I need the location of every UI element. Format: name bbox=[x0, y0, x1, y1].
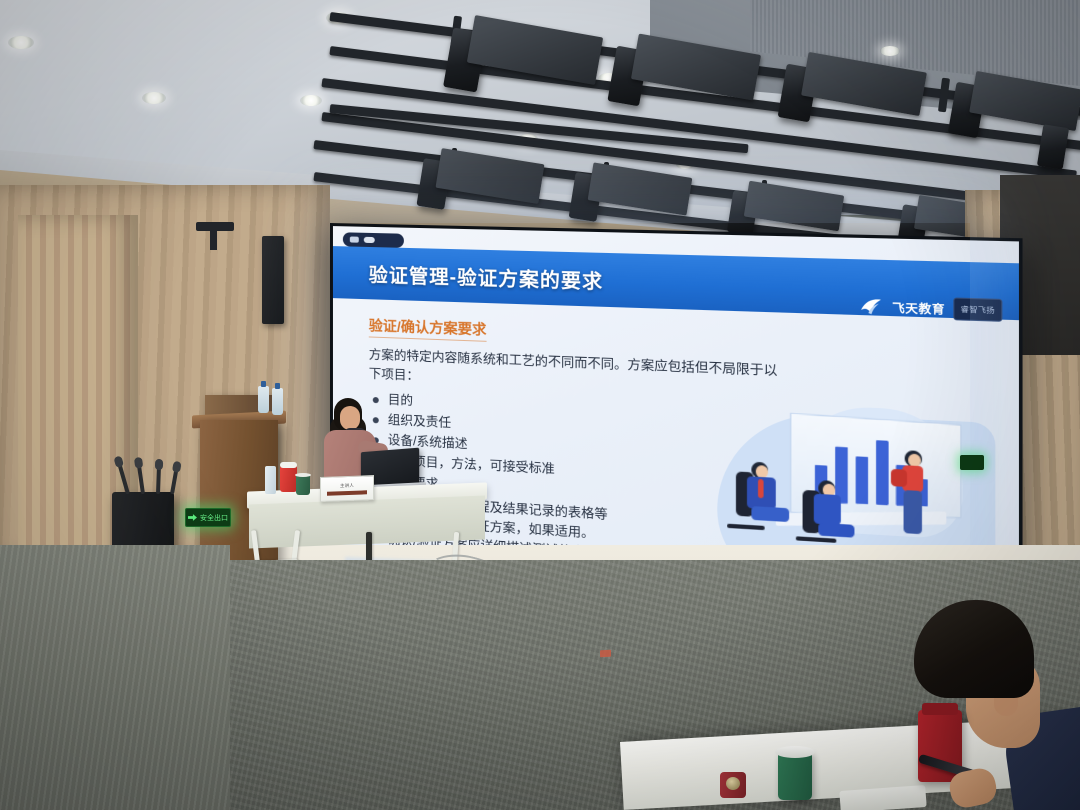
brand-name: 飞天教育 bbox=[892, 298, 945, 317]
exit-sign-label: 安全出口 bbox=[200, 513, 228, 523]
illustration-person-folder bbox=[891, 469, 907, 487]
downlight bbox=[300, 95, 322, 106]
water-bottle bbox=[258, 386, 269, 413]
name-card-bar bbox=[327, 490, 367, 495]
water-bottle bbox=[272, 388, 283, 415]
table-green-cup bbox=[296, 475, 310, 495]
exit-sign-left: 安全出口 bbox=[185, 508, 231, 527]
exit-sign-right bbox=[960, 455, 984, 470]
exit-arrow-icon bbox=[188, 513, 197, 522]
downlight bbox=[142, 92, 166, 104]
illustration-person-legs bbox=[751, 506, 789, 522]
illustration-person-legs bbox=[818, 523, 854, 538]
downlight bbox=[880, 46, 900, 56]
carpet-floor-left bbox=[0, 545, 230, 810]
illustration-person-legs bbox=[904, 490, 922, 534]
audience-member-hair bbox=[914, 600, 1034, 698]
presenter-face bbox=[340, 406, 360, 430]
conference-hall-photo: 验证管理-验证方案的要求 飞天教育 睿智飞扬 验证/确认方案要求 bbox=[0, 0, 1080, 810]
name-card-label: 主讲人 bbox=[340, 482, 354, 488]
floor-marker bbox=[600, 650, 611, 658]
illustration-person-torso bbox=[814, 494, 841, 525]
presenter-name-card: 主讲人 bbox=[320, 475, 374, 502]
green-paper-cup bbox=[778, 752, 812, 800]
table-red-cup bbox=[280, 466, 297, 492]
chrome-dot-icon bbox=[364, 237, 375, 243]
wall-speaker bbox=[262, 236, 284, 324]
slide-title-bar: 验证管理-验证方案的要求 飞天教育 睿智飞扬 bbox=[333, 246, 1019, 320]
brand-lockup: 飞天教育 睿智飞扬 bbox=[859, 295, 1002, 322]
illustration-person-tie bbox=[758, 479, 764, 498]
illustration-chart-bar bbox=[856, 456, 868, 504]
illustration-chart-bar bbox=[876, 440, 888, 505]
brand-badge-text: 睿智飞扬 bbox=[961, 304, 995, 316]
bird-flame-logo-icon bbox=[859, 297, 884, 316]
slide-title: 验证管理-验证方案的要求 bbox=[369, 260, 603, 294]
table-water-bottle bbox=[265, 466, 276, 494]
downlight bbox=[8, 36, 34, 49]
brand-badge: 睿智飞扬 bbox=[953, 297, 1002, 321]
slide-window-chrome bbox=[343, 232, 404, 248]
wall-bracket-arm bbox=[210, 228, 217, 250]
small-red-jar bbox=[720, 772, 746, 798]
chrome-dot-icon bbox=[350, 236, 359, 242]
slide-section-heading: 验证/确认方案要求 bbox=[369, 315, 487, 342]
